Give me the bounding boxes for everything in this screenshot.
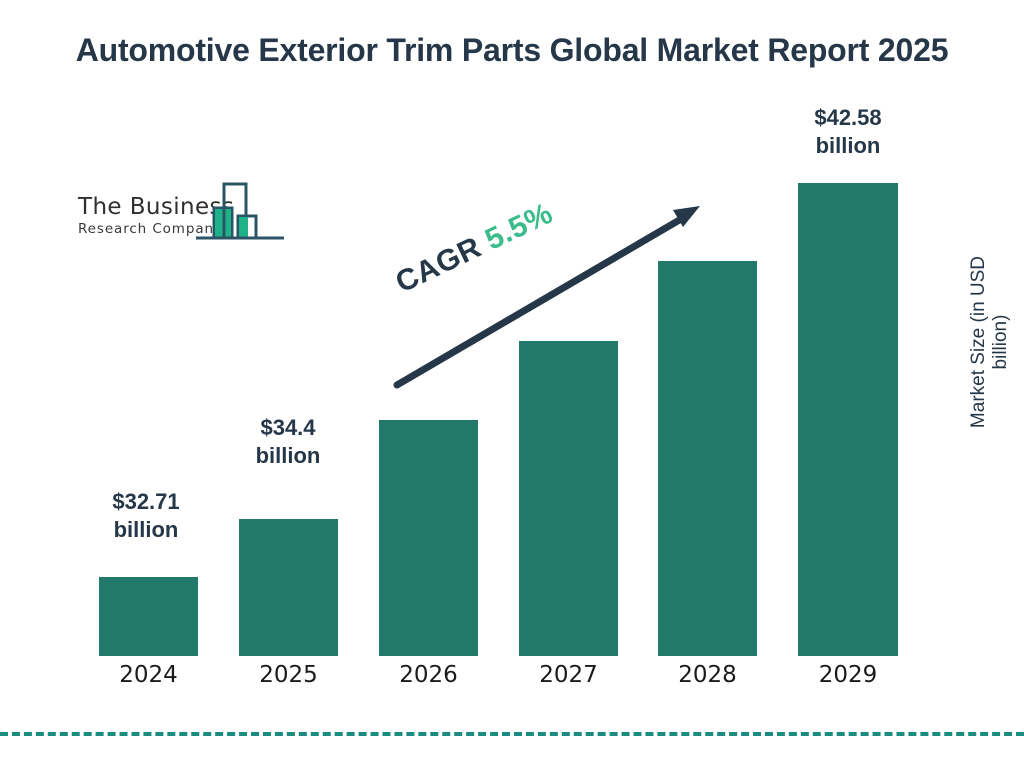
bar-2024 [99, 577, 198, 656]
value-callout-2029-amount: $42.58 [778, 104, 918, 132]
bar-2027 [519, 341, 618, 656]
bar-2026 [379, 420, 478, 656]
cagr-value: 5.5% [480, 197, 558, 257]
value-callout-2025-unit: billion [218, 442, 358, 470]
value-callout-2024: $32.71 billion [76, 488, 216, 544]
footer-divider [0, 732, 1024, 736]
value-callout-2029-unit: billion [778, 132, 918, 160]
value-callout-2024-unit: billion [76, 516, 216, 544]
y-axis-title: Market Size (in USD billion) [968, 232, 1012, 452]
bar-chart: 2024 2025 2026 2027 2028 2029 $32.71 bil… [0, 0, 1024, 768]
value-callout-2025: $34.4 billion [218, 414, 358, 470]
x-axis-label-2029: 2029 [798, 662, 898, 688]
chart-page: Automotive Exterior Trim Parts Global Ma… [0, 0, 1024, 768]
x-axis-label-2024: 2024 [99, 662, 198, 688]
cagr-label: CAGR [391, 231, 487, 300]
value-callout-2025-amount: $34.4 [218, 414, 358, 442]
bar-2025 [239, 519, 338, 656]
x-axis-label-2027: 2027 [519, 662, 618, 688]
x-axis-label-2028: 2028 [658, 662, 757, 688]
value-callout-2024-amount: $32.71 [76, 488, 216, 516]
x-axis-label-2026: 2026 [379, 662, 478, 688]
bar-2029 [798, 183, 898, 656]
cagr-annotation: CAGR 5.5% [391, 197, 559, 301]
value-callout-2029: $42.58 billion [778, 104, 918, 160]
x-axis-label-2025: 2025 [239, 662, 338, 688]
bar-2028 [658, 261, 757, 656]
